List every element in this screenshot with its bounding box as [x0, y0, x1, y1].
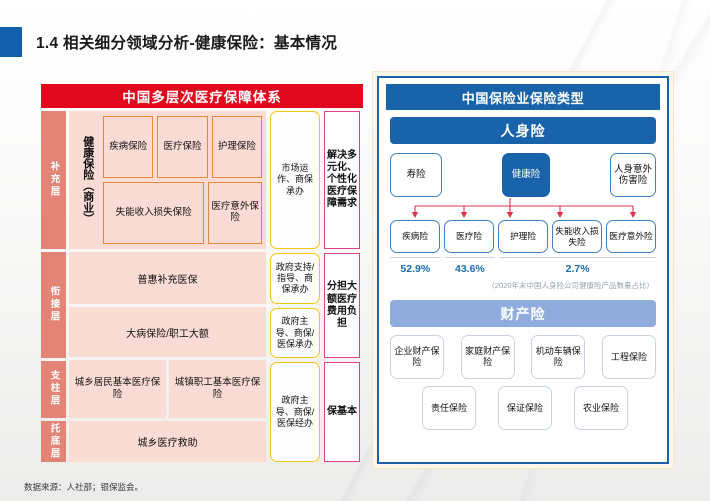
node-personal-accident-insurance[interactable]: 人身意外伤害险: [610, 153, 656, 197]
percentage-note: （2020年末中国人身险公司健康险产品数量占比）: [390, 280, 656, 291]
node-engineering-insurance[interactable]: 工程保险: [602, 335, 656, 379]
node-motor-vehicle-insurance[interactable]: 机动车辆保险: [531, 335, 585, 379]
supplement-row-1: 疾病保险 医疗保险 护理保险: [103, 116, 262, 178]
right-panel-header: 中国保险业保险类型: [386, 84, 660, 110]
percent-medical: 43.6%: [445, 257, 496, 279]
right-panel: 中国保险业保险类型 人身险 寿险 健康险 人身意外伤害险: [377, 76, 669, 464]
node-guarantee-insurance[interactable]: 保证保险: [498, 386, 552, 430]
connector-arrows-icon: [390, 198, 658, 220]
operation-gov-led-administer: 政府主导、商保/医保经办: [270, 362, 320, 462]
life-tier2-row: 寿险 健康险 人身意外伤害险: [390, 153, 656, 197]
operation-gov-support: 政府支持/指导、商保承办: [270, 253, 320, 304]
purpose-share-large-cost: 分担大额医疗费用负担: [324, 253, 360, 358]
operation-market-commercial: 市场运作、商保承办: [270, 111, 320, 249]
cell-nursing-insurance[interactable]: 护理保险: [212, 116, 262, 178]
block-resident-basic-medical-insurance[interactable]: 城乡居民基本医疗保险: [69, 360, 166, 417]
supplement-grid: 疾病保险 医疗保险 护理保险 失能收入损失保险 医疗意外保险: [103, 116, 262, 244]
block-inclusive-supplementary-insurance[interactable]: 普惠补充医保: [69, 252, 266, 303]
purpose-basic-coverage: 保基本: [324, 362, 360, 462]
purpose-column: 解决多元化、个性化医疗保障需求 分担大额医疗费用负担 保基本: [324, 108, 360, 462]
node-agricultural-insurance[interactable]: 农业保险: [574, 386, 628, 430]
layer-label-supplement: 补充层: [41, 111, 66, 249]
block-employee-basic-medical-insurance[interactable]: 城镇职工基本医疗保险: [169, 360, 266, 417]
node-disease-insurance[interactable]: 疾病险: [390, 220, 440, 253]
right-panel-content: 人身险 寿险 健康险 人身意外伤害险: [379, 110, 667, 430]
property-row-2: 责任保险 保证保险 农业保险: [390, 386, 656, 430]
band-life-insurance: 人身险: [390, 117, 656, 144]
title-accent-bar: [0, 27, 22, 57]
block-critical-illness-insurance[interactable]: 大病保险/职工大额: [69, 307, 266, 357]
layer-label-column: 补充层 衔接层 支柱层 托底层: [41, 108, 66, 462]
percent-disease: 52.9%: [390, 257, 441, 279]
health-insurance-connector: [390, 198, 656, 220]
node-medical-insurance[interactable]: 医疗险: [444, 220, 494, 253]
band-property-insurance: 财产险: [390, 300, 656, 327]
commercial-health-insurance-label: 健康保险（商业）: [73, 116, 101, 244]
left-panel: 中国多层次医疗保障体系 补充层 衔接层 支柱层 托底层 健康保险（商业） 疾病保…: [41, 84, 363, 462]
operation-gov-led-underwrite: 政府主导、商保/医保承办: [270, 308, 320, 358]
source-footer: 数据来源：人社部；银保监会。: [24, 481, 143, 493]
health-subtypes-row: 疾病险 医疗险 护理险 失能收入损失险 医疗意外险: [390, 220, 656, 253]
percentage-row: 52.9% 43.6% 2.7%: [390, 257, 656, 279]
node-enterprise-property-insurance[interactable]: 企业财产保险: [390, 335, 444, 379]
left-panel-header: 中国多层次医疗保障体系: [41, 84, 363, 108]
operation-column: 市场运作、商保承办 政府支持/指导、商保承办 政府主导、商保/医保承办 政府主导…: [270, 108, 320, 462]
node-liability-insurance[interactable]: 责任保险: [422, 386, 476, 430]
supplement-block: 健康保险（商业） 疾病保险 医疗保险 护理保险 失能收入损失保险 医疗意外保险: [69, 111, 266, 249]
supplement-row-2: 失能收入损失保险 医疗意外保险: [103, 182, 262, 244]
node-life-insurance[interactable]: 寿险: [390, 153, 442, 197]
cell-disability-income-insurance[interactable]: 失能收入损失保险: [103, 182, 204, 244]
cell-medical-accident-insurance[interactable]: 医疗意外保险: [208, 182, 262, 244]
left-panel-body: 补充层 衔接层 支柱层 托底层 健康保险（商业） 疾病保险 医疗保险 护理保险 …: [41, 108, 363, 462]
node-disability-income-insurance[interactable]: 失能收入损失险: [552, 220, 602, 253]
layer-label-base: 托底层: [41, 421, 66, 462]
node-household-property-insurance[interactable]: 家庭财产保险: [461, 335, 515, 379]
page-title-text: 1.4 相关细分领域分析-健康保险：基本情况: [36, 31, 337, 53]
left-main-column: 健康保险（商业） 疾病保险 医疗保险 护理保险 失能收入损失保险 医疗意外保险 …: [69, 108, 266, 462]
purpose-diverse-needs: 解决多元化、个性化医疗保障需求: [324, 111, 360, 249]
block-medical-assistance[interactable]: 城乡医疗救助: [69, 421, 266, 463]
layer-label-bridge: 衔接层: [41, 252, 66, 358]
page-title: 1.4 相关细分领域分析-健康保险：基本情况: [0, 27, 337, 57]
cell-disease-insurance[interactable]: 疾病保险: [103, 116, 153, 178]
pillar-row: 城乡居民基本医疗保险 城镇职工基本医疗保险: [69, 360, 266, 417]
layer-label-pillar: 支柱层: [41, 361, 66, 418]
property-row-1: 企业财产保险 家庭财产保险 机动车辆保险 工程保险: [390, 335, 656, 379]
node-health-insurance[interactable]: 健康险: [502, 153, 550, 197]
node-medical-accident-insurance[interactable]: 医疗意外险: [606, 220, 656, 253]
percent-others: 2.7%: [499, 257, 656, 279]
cell-medical-insurance[interactable]: 医疗保险: [157, 116, 207, 178]
node-nursing-insurance[interactable]: 护理险: [498, 220, 548, 253]
